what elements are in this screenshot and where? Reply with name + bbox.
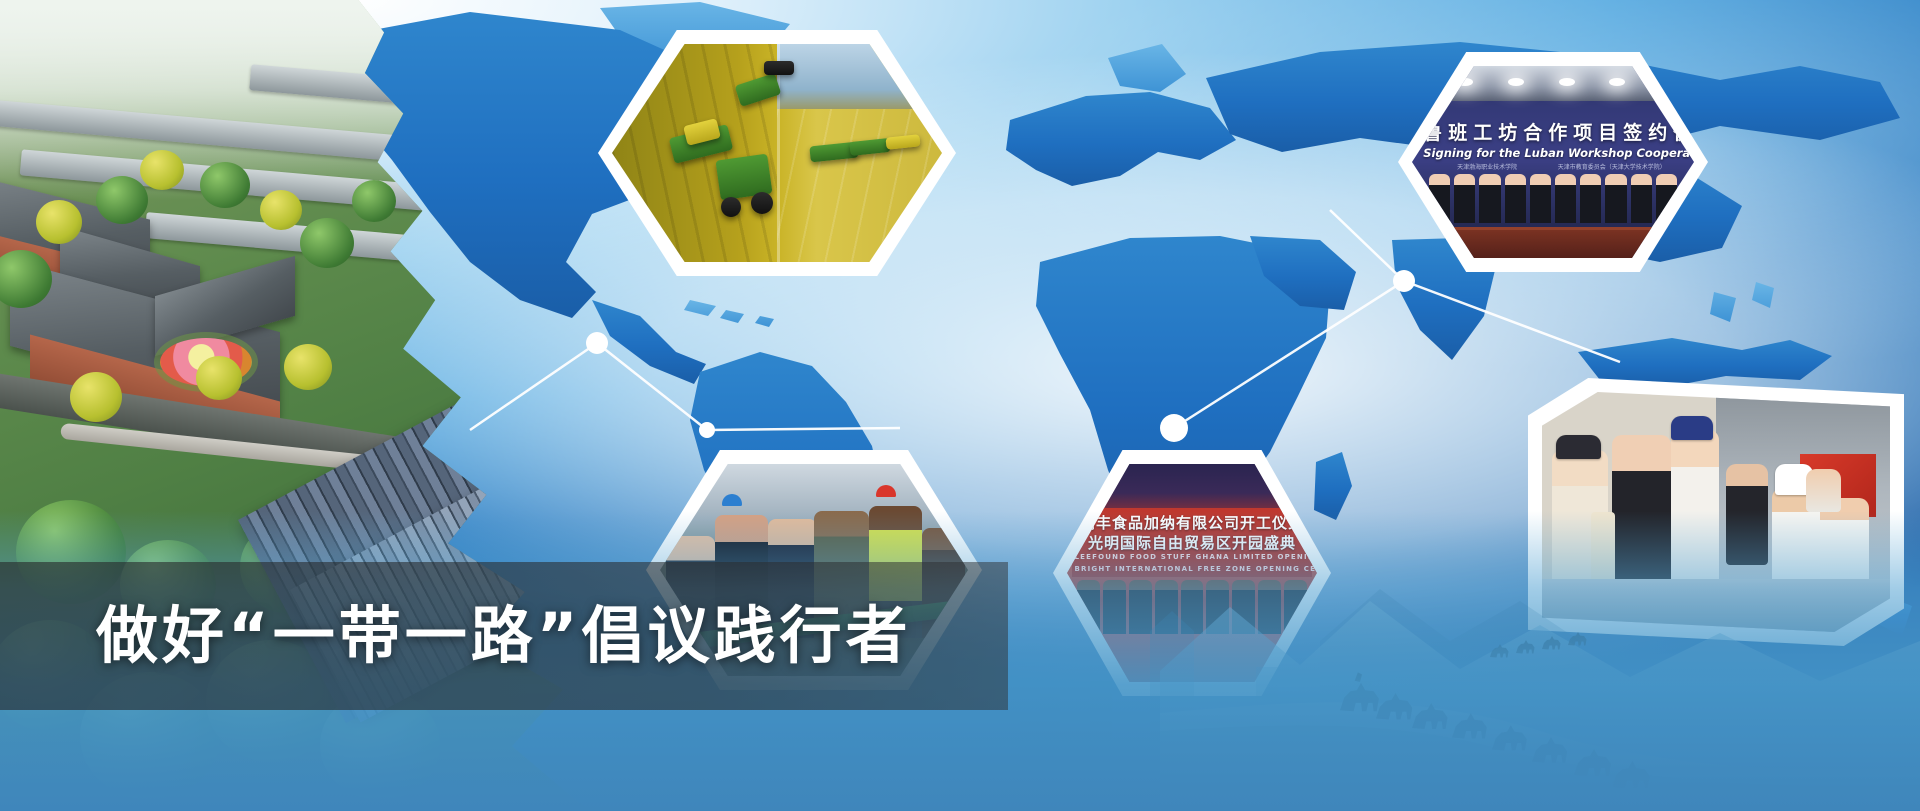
- headline-text: 做好“一带一路”倡议践行者: [96, 605, 912, 667]
- headline-banner: 做好“一带一路”倡议践行者: [0, 562, 1008, 710]
- tile-luban-signing[interactable]: 鲁班工坊合作项目签约仪式 Signing for the Luban Works…: [1398, 52, 1708, 272]
- tile-harvest[interactable]: [598, 30, 956, 276]
- luban-sub-right: 天津市教育委员会（天津大学技术学院）: [1558, 162, 1666, 171]
- luban-caption-cn: 鲁班工坊合作项目签约仪式: [1423, 124, 1685, 143]
- hero-banner: 鲁班工坊合作项目签约仪式 Signing for the Luban Works…: [0, 0, 1920, 811]
- luban-sub-left: 天津渤海职业技术学院: [1457, 162, 1517, 171]
- luban-caption-en: Signing for the Luban Workshop Cooperati…: [1423, 146, 1685, 160]
